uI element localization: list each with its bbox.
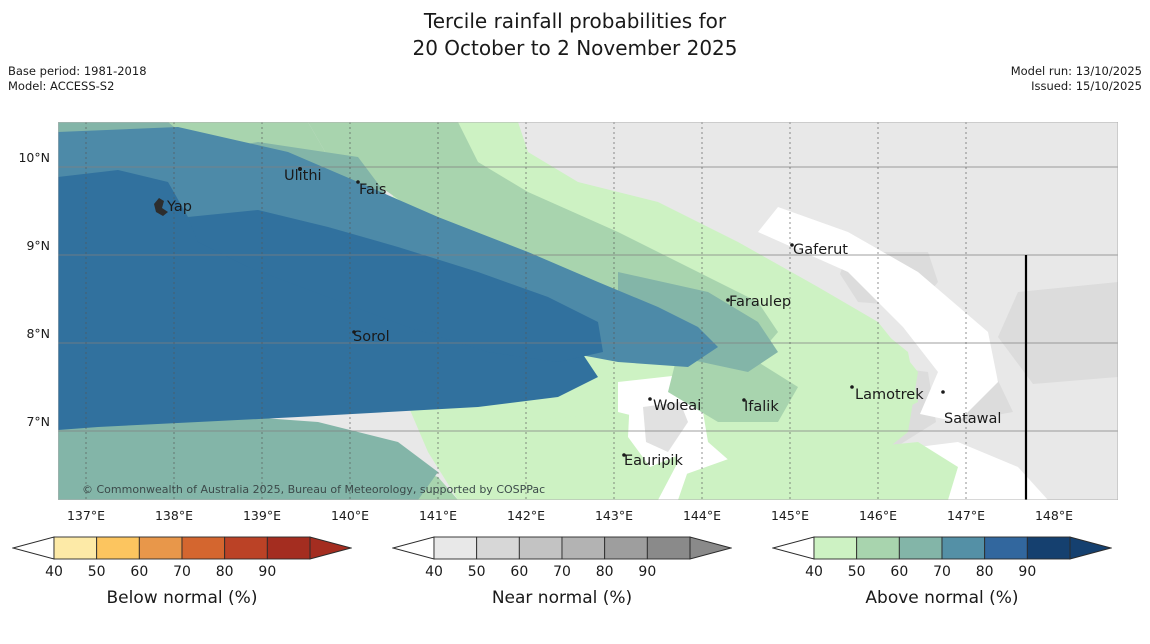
model-run-text: Model run: 13/10/2025 (1011, 64, 1142, 79)
colorbar-tick-50: 50 (460, 564, 494, 580)
x-axis-tick-146E: 146°E (843, 508, 913, 523)
colorbar-swatch-2 (519, 537, 562, 559)
place-label-gaferut: Gaferut (793, 242, 848, 258)
colorbar-swatch-5 (1027, 537, 1070, 559)
place-label-eauripik: Eauripik (624, 453, 683, 469)
colorbar-above-normal: 405060708090Above normal (%) (772, 536, 1112, 584)
colorbar-over-arrow (310, 537, 351, 559)
x-axis-tick-142E: 142°E (491, 508, 561, 523)
x-axis-tick-141E: 141°E (403, 508, 473, 523)
y-axis-tick-9N: 9°N (2, 238, 50, 253)
colorbar-label-near-normal: Near normal (%) (392, 588, 732, 608)
x-axis-tick-143E: 143°E (579, 508, 649, 523)
colorbar-swatch-5 (647, 537, 690, 559)
place-marker-woleai (648, 397, 652, 401)
x-axis-tick-148E: 148°E (1019, 508, 1089, 523)
colorbar-swatch-0 (814, 537, 857, 559)
colorbar-swatch-2 (899, 537, 942, 559)
place-label-faraulep: Faraulep (729, 294, 791, 310)
colorbar-over-arrow (690, 537, 731, 559)
colorbar-tick-50: 50 (840, 564, 874, 580)
place-marker-lamotrek (850, 385, 854, 389)
colorbar-tick-90: 90 (1010, 564, 1044, 580)
colorbar-tick-80: 80 (968, 564, 1002, 580)
colorbar-swatch-2 (139, 537, 182, 559)
y-axis-tick-8N: 8°N (2, 326, 50, 341)
colorbar-label-below-normal: Below normal (%) (12, 588, 352, 608)
colorbar-swatch-4 (985, 537, 1028, 559)
colorbar-under-arrow (773, 537, 814, 559)
colorbar-swatch-5 (267, 537, 310, 559)
colorbar-swatch-3 (562, 537, 605, 559)
colorbar-tick-80: 80 (588, 564, 622, 580)
place-label-lamotrek: Lamotrek (855, 387, 924, 403)
x-axis-tick-144E: 144°E (667, 508, 737, 523)
colorbar-swatch-3 (182, 537, 225, 559)
colorbar-ticks-near-normal: 405060708090 (392, 564, 732, 584)
place-label-yap: Yap (167, 199, 192, 215)
colorbar-tick-80: 80 (208, 564, 242, 580)
place-label-woleai: Woleai (653, 398, 701, 414)
colorbar-tick-90: 90 (630, 564, 664, 580)
colorbar-over-arrow (1070, 537, 1111, 559)
colorbar-swatch-1 (857, 537, 900, 559)
colorbar-tick-60: 60 (122, 564, 156, 580)
title-line-1: Tercile rainfall probabilities for (0, 8, 1150, 35)
colorbar-tick-60: 60 (882, 564, 916, 580)
colorbar-swatch-1 (477, 537, 520, 559)
copyright-text: © Commonwealth of Australia 2025, Bureau… (82, 483, 545, 496)
colorbar-swatches-near-normal (392, 536, 732, 560)
colorbar-ticks-below-normal: 405060708090 (12, 564, 352, 584)
probability-map (58, 122, 1118, 500)
colorbar-swatch-4 (225, 537, 268, 559)
colorbar-label-above-normal: Above normal (%) (772, 588, 1112, 608)
model-text: Model: ACCESS-S2 (8, 79, 147, 94)
colorbar-swatch-0 (434, 537, 477, 559)
place-label-sorol: Sorol (353, 329, 390, 345)
base-period-text: Base period: 1981-2018 (8, 64, 147, 79)
colorbar-tick-70: 70 (165, 564, 199, 580)
place-label-satawal: Satawal (944, 411, 1001, 427)
colorbar-tick-70: 70 (545, 564, 579, 580)
colorbar-tick-70: 70 (925, 564, 959, 580)
x-axis-tick-139E: 139°E (227, 508, 297, 523)
colorbar-swatches-below-normal (12, 536, 352, 560)
metadata-right: Model run: 13/10/2025 Issued: 15/10/2025 (1011, 64, 1142, 94)
x-axis-tick-137E: 137°E (51, 508, 121, 523)
colorbar-tick-40: 40 (37, 564, 71, 580)
colorbar-tick-60: 60 (502, 564, 536, 580)
place-label-ulithi: Ulithi (284, 168, 322, 184)
x-axis-tick-138E: 138°E (139, 508, 209, 523)
y-axis-tick-10N: 10°N (2, 150, 50, 165)
colorbar-tick-90: 90 (250, 564, 284, 580)
colorbar-ticks-above-normal: 405060708090 (772, 564, 1112, 584)
x-axis-tick-147E: 147°E (931, 508, 1001, 523)
y-axis-tick-7N: 7°N (2, 414, 50, 429)
colorbar-under-arrow (393, 537, 434, 559)
colorbar-tick-40: 40 (417, 564, 451, 580)
issued-text: Issued: 15/10/2025 (1011, 79, 1142, 94)
place-label-ifalik: Ifalik (744, 399, 779, 415)
x-axis-tick-140E: 140°E (315, 508, 385, 523)
metadata-left: Base period: 1981-2018 Model: ACCESS-S2 (8, 64, 147, 94)
colorbar-swatch-0 (54, 537, 97, 559)
colorbar-swatch-4 (605, 537, 648, 559)
colorbar-swatches-above-normal (772, 536, 1112, 560)
place-label-fais: Fais (359, 182, 386, 198)
colorbar-below-normal: 405060708090Below normal (%) (12, 536, 352, 584)
colorbar-swatch-3 (942, 537, 985, 559)
colorbar-tick-40: 40 (797, 564, 831, 580)
x-axis-tick-145E: 145°E (755, 508, 825, 523)
colorbar-tick-50: 50 (80, 564, 114, 580)
colorbar-swatch-1 (97, 537, 140, 559)
map-contour-svg (58, 122, 1118, 500)
title-line-2: 20 October to 2 November 2025 (0, 35, 1150, 62)
place-marker-satawal (941, 390, 945, 394)
colorbar-near-normal: 405060708090Near normal (%) (392, 536, 732, 584)
page-title: Tercile rainfall probabilities for 20 Oc… (0, 8, 1150, 62)
colorbar-under-arrow (13, 537, 54, 559)
